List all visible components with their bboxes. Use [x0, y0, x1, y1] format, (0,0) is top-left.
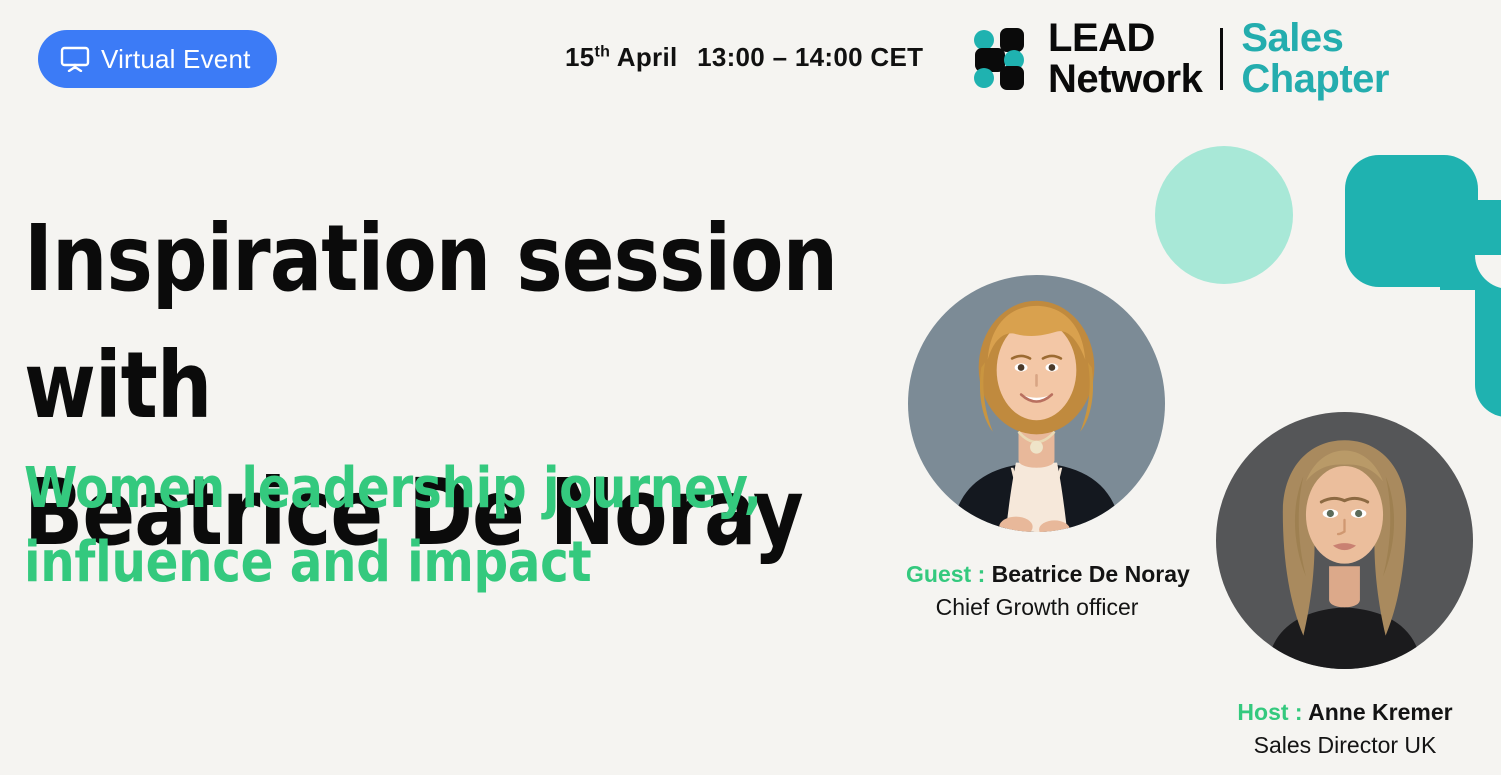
lead-network-dots-icon [974, 28, 1036, 90]
teal-notch-decoration [1475, 255, 1501, 289]
logo-chapter-line2: Chapter [1241, 59, 1389, 100]
subheadline-line2: influence and impact [24, 526, 773, 600]
subheadline-line1: Women leadership journey, [24, 456, 762, 521]
logo-chapter-text: Sales Chapter [1241, 18, 1389, 100]
event-subheadline: Women leadership journey, influence and … [24, 452, 773, 601]
guest-name: Beatrice De Noray [992, 561, 1190, 587]
logo-brand-line2: Network [1048, 59, 1202, 100]
guest-title: Chief Growth officer [906, 592, 1168, 622]
virtual-event-label: Virtual Event [101, 44, 251, 75]
mint-circle-decoration [1155, 146, 1293, 284]
teal-column-decoration [1475, 255, 1501, 417]
host-avatar [1216, 412, 1473, 669]
event-banner: Virtual Event 15th April 13:00 – 14:00 C… [0, 0, 1501, 775]
lead-network-sales-chapter-logo: LEAD Network Sales Chapter [974, 18, 1389, 100]
teal-rounded-square-decoration [1345, 155, 1478, 287]
event-day: 15 [565, 42, 595, 72]
guest-role-line: Guest : Beatrice De Noray [906, 560, 1168, 589]
guest-role-label: Guest : [906, 561, 985, 587]
logo-divider [1220, 28, 1223, 90]
virtual-event-badge: Virtual Event [38, 30, 277, 88]
event-day-suffix: th [595, 43, 611, 60]
logo-chapter-line1: Sales [1241, 18, 1389, 59]
logo-brand-line1: LEAD [1048, 18, 1202, 59]
event-datetime: 15th April 13:00 – 14:00 CET [565, 42, 923, 73]
host-name: Anne Kremer [1308, 699, 1452, 725]
portrait-anne-kremer [1216, 412, 1473, 669]
teal-joiner-decoration [1440, 200, 1501, 290]
host-title: Sales Director UK [1214, 730, 1476, 760]
headline-line1: Inspiration session with [24, 205, 837, 439]
portrait-beatrice-de-noray [908, 275, 1165, 532]
guest-avatar [908, 275, 1165, 532]
event-time-range: 13:00 – 14:00 CET [697, 42, 923, 72]
logo-brand-text: LEAD Network [1048, 18, 1202, 100]
host-caption: Host : Anne Kremer Sales Director UK [1214, 698, 1476, 760]
presentation-screen-icon [60, 46, 90, 72]
host-role-line: Host : Anne Kremer [1214, 698, 1476, 727]
guest-caption: Guest : Beatrice De Noray Chief Growth o… [906, 560, 1168, 622]
event-month: April [617, 42, 678, 72]
host-role-label: Host : [1237, 699, 1302, 725]
